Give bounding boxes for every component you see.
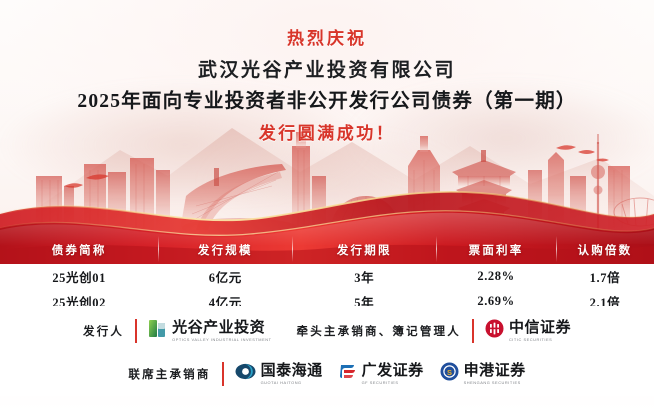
svg-text:S: S — [447, 368, 452, 377]
table-header-row: 债券简称 发行规模 发行期限 票面利率 认购倍数 — [0, 236, 654, 264]
citic-name-cn: 中信证券 — [509, 321, 571, 336]
logo-optics-valley: 光谷产业投资 OPTICS VALLEY INDUSTRIAL INVESTME… — [148, 319, 271, 343]
joint-underwriter-row: 联席主承销商 国泰海通 GUOTAI HAITONG — [0, 352, 654, 396]
guotai-haitong-text: 国泰海通 GUOTAI HAITONG — [261, 364, 323, 385]
cell-term: 3年 — [292, 267, 436, 286]
col-header-rate: 票面利率 — [436, 242, 556, 258]
citic-mark-icon — [485, 319, 504, 343]
gf-securities-text: 广发证券 GF SECURITIES — [362, 364, 424, 385]
col-header-term: 发行期限 — [292, 242, 436, 258]
col-header-multiple: 认购倍数 — [556, 242, 654, 258]
table-row: 25光创01 6亿元 3年 2.28% 1.7倍 — [0, 264, 654, 289]
bond-table: 债券简称 发行规模 发行期限 票面利率 认购倍数 25光创01 6亿元 3年 2… — [0, 236, 654, 314]
cell-multiple: 1.7倍 — [556, 267, 654, 286]
gf-securities-name-en: GF SECURITIES — [362, 381, 424, 385]
joint-underwriter-label: 联席主承销商 — [128, 366, 210, 382]
shengang-text: 申港证券 SHENGANG SECURITIES — [464, 364, 526, 385]
optics-valley-text: 光谷产业投资 OPTICS VALLEY INDUSTRIAL INVESTME… — [172, 321, 271, 342]
guotai-haitong-mark-icon — [235, 362, 256, 386]
celebrate-text: 热烈庆祝 — [0, 28, 654, 49]
shengang-mark-icon: S — [440, 362, 459, 386]
cell-rate: 2.28% — [436, 269, 556, 284]
shengang-name-en: SHENGANG SECURITIES — [464, 381, 526, 385]
headline-block: 热烈庆祝 武汉光谷产业投资有限公司 2025年面向专业投资者非公开发行公司债券（… — [0, 28, 654, 145]
divider-bar — [222, 362, 224, 386]
issuer-label: 发行人 — [83, 323, 124, 339]
citic-text: 中信证券 CITIC SECURITIES — [509, 321, 571, 342]
bond-title: 2025年面向专业投资者非公开发行公司债券（第一期） — [0, 89, 654, 114]
col-header-scale: 发行规模 — [158, 242, 292, 258]
logo-guotai-haitong: 国泰海通 GUOTAI HAITONG — [235, 362, 323, 386]
divider-bar — [472, 319, 474, 343]
logo-gf-securities: 广发证券 GF SECURITIES — [339, 362, 424, 386]
divider-bar — [135, 319, 137, 343]
logo-shengang-securities: S 申港证券 SHENGANG SECURITIES — [440, 362, 526, 386]
issuer-underwriter-row: 发行人 光谷产业投资 — [0, 310, 654, 352]
company-name: 武汉光谷产业投资有限公司 — [0, 59, 654, 84]
optics-valley-name-cn: 光谷产业投资 — [172, 321, 271, 336]
col-header-bond-name: 债券简称 — [0, 242, 158, 258]
poster-canvas: 热烈庆祝 武汉光谷产业投资有限公司 2025年面向专业投资者非公开发行公司债券（… — [0, 0, 654, 413]
guotai-haitong-name-cn: 国泰海通 — [261, 364, 323, 379]
cell-bond-name: 25光创01 — [0, 267, 158, 286]
gf-securities-name-cn: 广发证券 — [362, 364, 424, 379]
guotai-haitong-name-en: GUOTAI HAITONG — [261, 381, 323, 385]
footer-block: 发行人 光谷产业投资 — [0, 306, 654, 396]
logo-citic-securities: 中信证券 CITIC SECURITIES — [485, 319, 571, 343]
cell-scale: 6亿元 — [158, 267, 292, 286]
success-text: 发行圆满成功！ — [0, 123, 654, 144]
optics-valley-name-en: OPTICS VALLEY INDUSTRIAL INVESTMENT — [172, 338, 271, 342]
optics-valley-mark-icon — [148, 319, 167, 343]
shengang-name-cn: 申港证券 — [464, 364, 526, 379]
citic-name-en: CITIC SECURITIES — [509, 338, 571, 342]
lead-underwriter-label: 牵头主承销商、簿记管理人 — [297, 323, 461, 339]
gf-securities-mark-icon — [339, 362, 357, 386]
